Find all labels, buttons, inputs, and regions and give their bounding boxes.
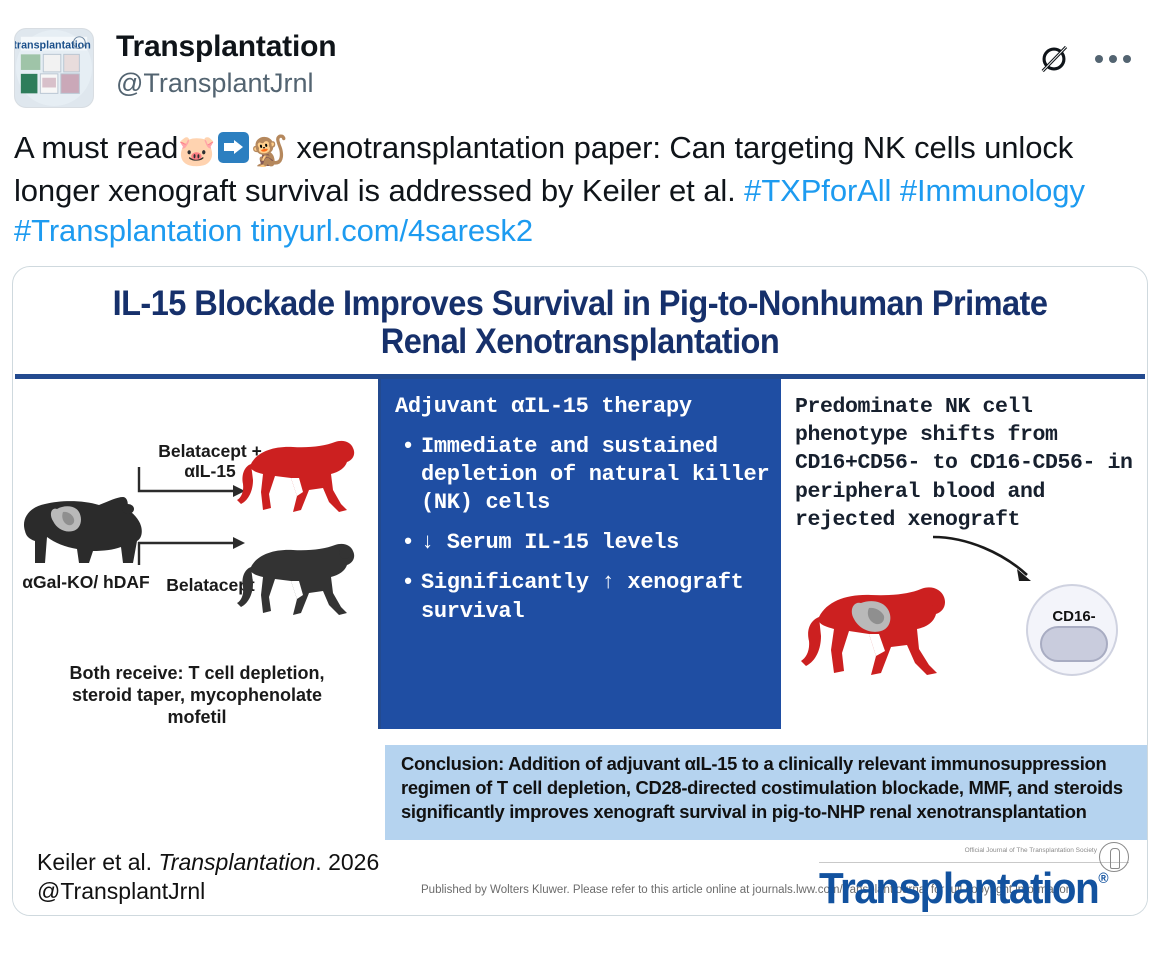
tweet-header: transplantation Transplantation @Transpl… — [0, 0, 1161, 118]
tweet-link[interactable]: tinyurl.com/4saresk2 — [251, 213, 533, 248]
hashtag-immunology[interactable]: #Immunology — [900, 173, 1085, 208]
phenotype-text: Predominate NK cell phenotype shifts fro… — [781, 379, 1147, 535]
list-item: • ↓ Serum IL-15 levels — [395, 529, 771, 557]
conclusion-text: Conclusion: Addition of adjuvant αIL-15 … — [401, 752, 1133, 825]
therapy-bullet-1: Immediate and sustained depletion of nat… — [421, 433, 771, 517]
journal-brand: Official Journal of The Transplantation … — [819, 842, 1129, 916]
monkey-icon-control — [235, 537, 365, 622]
avatar-journal-cover: transplantation — [15, 29, 93, 107]
arrow-right-emoji — [218, 132, 249, 163]
society-seal-icon — [1099, 842, 1129, 872]
citation-author: Keiler et al. — [37, 849, 152, 875]
citation-year: . 2026 — [315, 849, 379, 875]
pig-genotype-label: αGal-KO/ hDAF — [21, 572, 151, 593]
pig-emoji: 🐷 — [178, 135, 215, 168]
avatar[interactable]: transplantation — [14, 28, 94, 108]
nk-cell-icon: CD16- CD56- — [1026, 584, 1118, 676]
bullet-icon: • — [395, 433, 421, 517]
brand-divider — [819, 862, 1129, 863]
brand-tagline: Official Journal of The Transplantation … — [965, 846, 1097, 855]
therapy-bullet-3: Significantly ↑ xenograft survival — [421, 569, 771, 625]
graphical-abstract-body: αGal-KO/ hDAF Belatacept + αIL-15 Belata… — [13, 379, 1147, 729]
more-options-icon[interactable] — [1093, 47, 1133, 71]
brand-wordmark: Transplantation® — [819, 864, 1088, 914]
therapy-bullet-list: • Immediate and sustained depletion of n… — [395, 433, 771, 626]
header-actions — [1037, 28, 1141, 76]
panel-phenotype: Predominate NK cell phenotype shifts fro… — [781, 379, 1147, 729]
account-handle[interactable]: @TransplantJrnl — [116, 68, 336, 98]
brand-wordmark-text: Transplantation — [819, 864, 1098, 913]
grok-icon[interactable] — [1037, 42, 1071, 76]
account-identity: Transplantation @TransplantJrnl — [116, 28, 336, 98]
bullet-icon: • — [395, 569, 421, 625]
citation: Keiler et al. Transplantation. 2026 @Tra… — [37, 848, 379, 906]
cell-nucleus — [1040, 626, 1108, 662]
graphical-abstract-title: IL-15 Blockade Improves Survival in Pig-… — [53, 267, 1108, 372]
tweet-text-part1: A must read — [14, 130, 178, 165]
monkey-icon-rejecting — [799, 579, 959, 684]
hashtag-transplantation[interactable]: #Transplantation — [14, 213, 242, 248]
panel-therapy: Adjuvant αIL-15 therapy • Immediate and … — [381, 379, 781, 729]
citation-handle: @TransplantJrnl — [37, 878, 205, 904]
therapy-bullet-2: ↓ Serum IL-15 levels — [421, 529, 771, 557]
conclusion-banner: Conclusion: Addition of adjuvant αIL-15 … — [385, 745, 1147, 840]
bullet-icon: • — [395, 529, 421, 557]
cell-label-cd16: CD16- — [1052, 608, 1095, 625]
both-receive-note: Both receive: T cell depletion, steroid … — [41, 662, 353, 729]
list-item: • Significantly ↑ xenograft survival — [395, 569, 771, 625]
list-item: • Immediate and sustained depletion of n… — [395, 433, 771, 517]
svg-text:transplantation: transplantation — [15, 40, 91, 52]
monkey-icon-treated — [235, 434, 365, 519]
display-name[interactable]: Transplantation — [116, 30, 336, 64]
graphical-abstract-footer: Keiler et al. Transplantation. 2026 @Tra… — [13, 840, 1147, 916]
graphical-abstract-card[interactable]: IL-15 Blockade Improves Survival in Pig-… — [12, 266, 1148, 916]
tweet-text: A must read🐷🐒 xenotransplantation paper:… — [0, 118, 1161, 252]
therapy-heading: Adjuvant αIL-15 therapy — [395, 393, 771, 421]
citation-journal: Transplantation — [158, 849, 315, 875]
hashtag-txpforall[interactable]: #TXPforAll — [744, 173, 891, 208]
registered-mark: ® — [1098, 870, 1107, 887]
monkey-emoji: 🐒 — [251, 135, 288, 168]
panel-model: αGal-KO/ hDAF Belatacept + αIL-15 Belata… — [13, 379, 381, 729]
